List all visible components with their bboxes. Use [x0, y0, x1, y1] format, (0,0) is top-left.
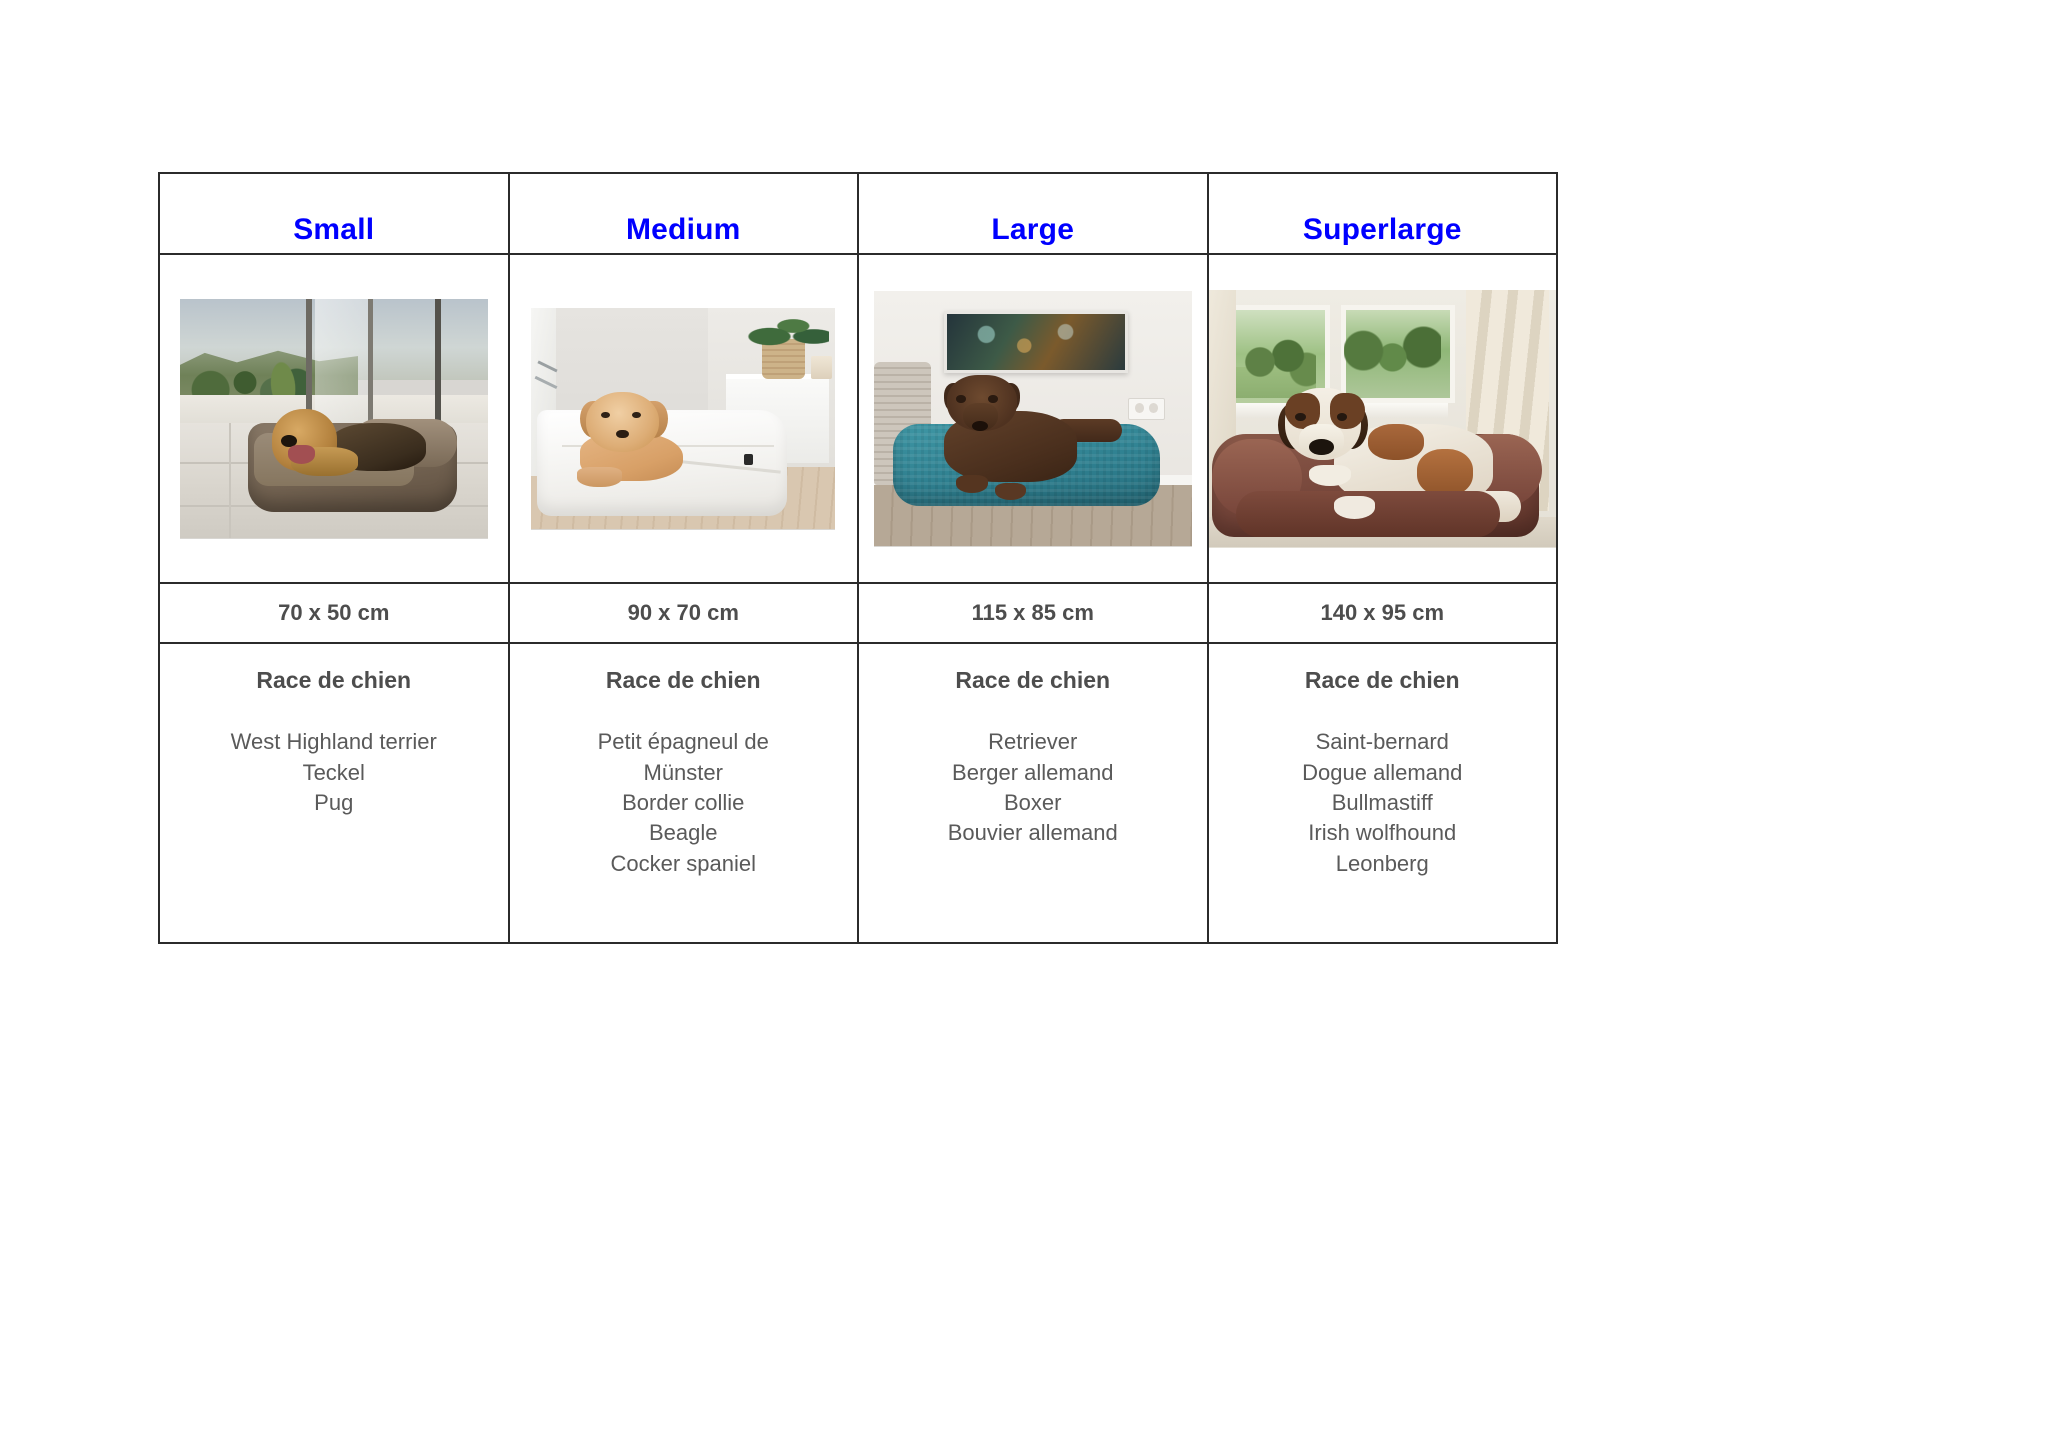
list-item: Berger allemand [859, 758, 1207, 788]
dimensions-cell-medium: 90 x 70 cm [509, 583, 859, 643]
photo-layer-wall-socket [1128, 398, 1165, 420]
photo-layer-dog-paw [956, 475, 988, 493]
photo-medium-dog-bed [531, 308, 835, 530]
header-cell-small: Small [159, 173, 509, 254]
photo-layer-hedge [1344, 320, 1441, 387]
photo-layer-dog-head [586, 392, 659, 452]
list-item: Irish wolfhound [1209, 818, 1557, 848]
dimensions-superlarge: 140 x 95 cm [1209, 601, 1557, 625]
dimensions-medium: 90 x 70 cm [510, 601, 858, 625]
photo-wrap-small [160, 255, 508, 582]
breeds-cell-small: Race de chien West Highland terrier Teck… [159, 643, 509, 943]
list-item: Pug [160, 788, 508, 818]
photo-layer-dog-paw [1309, 465, 1351, 486]
table-breeds-row: Race de chien West Highland terrier Teck… [159, 643, 1557, 943]
photo-layer-hedge [1236, 331, 1316, 393]
table-dimensions-row: 70 x 50 cm 90 x 70 cm 115 x 85 cm 140 x … [159, 583, 1557, 643]
image-cell-medium [509, 254, 859, 583]
list-item: Beagle [510, 818, 858, 848]
breed-block-large: Race de chien Retriever Berger allemand … [859, 644, 1207, 859]
header-cell-large: Large [858, 173, 1208, 254]
size-header-superlarge: Superlarge [1209, 214, 1557, 254]
header-cell-medium: Medium [509, 173, 859, 254]
breed-title-medium: Race de chien [510, 668, 858, 693]
photo-layer-bed-tag [744, 454, 753, 465]
photo-layer-dog-marking [1368, 424, 1424, 460]
photo-layer-plant [744, 312, 829, 348]
breed-title-superlarge: Race de chien [1209, 668, 1557, 693]
header-cell-superlarge: Superlarge [1208, 173, 1558, 254]
photo-layer-wall-art-detail [950, 314, 1115, 365]
list-item: Bouvier allemand [859, 818, 1207, 848]
breed-block-medium: Race de chien Petit épagneul de Münster … [510, 644, 858, 889]
dimensions-cell-large: 115 x 85 cm [858, 583, 1208, 643]
breed-title-small: Race de chien [160, 668, 508, 693]
photo-layer-dog-paws [577, 467, 623, 487]
list-item: Saint-bernard [1209, 727, 1557, 757]
photo-layer-dog-marking [1417, 449, 1473, 495]
photo-layer-tile-line [229, 423, 231, 538]
photo-layer-candle [811, 356, 832, 378]
photo-wrap-superlarge [1209, 255, 1557, 582]
list-item: Teckel [160, 758, 508, 788]
image-cell-small [159, 254, 509, 583]
breeds-cell-superlarge: Race de chien Saint-bernard Dogue allema… [1208, 643, 1558, 943]
list-item: West Highland terrier [160, 727, 508, 757]
photo-layer-dog-eye [988, 395, 998, 403]
dog-bed-size-table: Small Medium Large Superlarge [158, 172, 1558, 944]
photo-layer-dog-mouth [288, 445, 316, 464]
photo-large-dog-bed [874, 291, 1192, 547]
photo-layer-dog-paw [1334, 496, 1376, 519]
list-item: Cocker spaniel [510, 849, 858, 879]
list-item: Petit épagneul de [510, 727, 858, 757]
breed-list-small: West Highland terrier Teckel Pug [160, 727, 508, 818]
list-item: Retriever [859, 727, 1207, 757]
photo-wrap-large [859, 255, 1207, 582]
breed-list-medium: Petit épagneul de Münster Border collie … [510, 727, 858, 879]
breeds-cell-large: Race de chien Retriever Berger allemand … [858, 643, 1208, 943]
photo-layer-dog-eye [1295, 413, 1305, 421]
list-item: Leonberg [1209, 849, 1557, 879]
photo-layer-dog-nose [616, 430, 628, 439]
photo-layer-window-frame [306, 299, 312, 424]
breed-list-large: Retriever Berger allemand Boxer Bouvier … [859, 727, 1207, 848]
list-item: Border collie [510, 788, 858, 818]
breed-title-large: Race de chien [859, 668, 1207, 693]
photo-layer-window-frame [435, 299, 441, 424]
photo-small-dog-bed [180, 299, 488, 539]
list-item: Münster [510, 758, 858, 788]
dimensions-cell-superlarge: 140 x 95 cm [1208, 583, 1558, 643]
photo-wrap-medium [510, 255, 858, 582]
dimensions-large: 115 x 85 cm [859, 601, 1207, 625]
breeds-cell-medium: Race de chien Petit épagneul de Münster … [509, 643, 859, 943]
photo-layer-window-frame [368, 299, 373, 424]
image-cell-superlarge [1208, 254, 1558, 583]
size-header-large: Large [859, 214, 1207, 254]
table-header-row: Small Medium Large Superlarge [159, 173, 1557, 254]
list-item: Boxer [859, 788, 1207, 818]
list-item: Dogue allemand [1209, 758, 1557, 788]
document-page: Small Medium Large Superlarge [0, 0, 2048, 1448]
breed-block-small: Race de chien West Highland terrier Teck… [160, 644, 508, 828]
list-item: Bullmastiff [1209, 788, 1557, 818]
size-header-medium: Medium [510, 214, 858, 254]
photo-layer-dog-nose [1309, 439, 1333, 454]
breed-block-superlarge: Race de chien Saint-bernard Dogue allema… [1209, 644, 1557, 889]
image-cell-large [858, 254, 1208, 583]
size-header-small: Small [160, 214, 508, 254]
photo-layer-glass-reflection [315, 299, 367, 424]
dimensions-cell-small: 70 x 50 cm [159, 583, 509, 643]
table-image-row [159, 254, 1557, 583]
photo-layer-dog-marking [1330, 393, 1365, 429]
breed-list-superlarge: Saint-bernard Dogue allemand Bullmastiff… [1209, 727, 1557, 879]
photo-superlarge-dog-bed [1209, 290, 1557, 548]
dimensions-small: 70 x 50 cm [160, 601, 508, 625]
